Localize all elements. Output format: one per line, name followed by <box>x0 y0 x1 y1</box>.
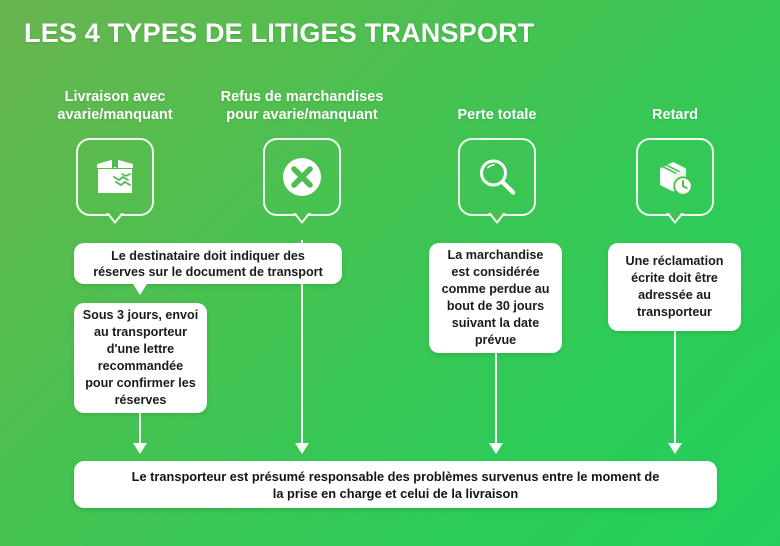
bubble-a-to-b-arrow <box>133 284 147 295</box>
column-heading-1: Livraison avec avarie/manquant <box>34 88 196 124</box>
icon-wrap-1 <box>76 138 154 216</box>
connector-line-4 <box>674 331 676 445</box>
icon-box-tail-inner-2 <box>295 212 309 221</box>
bubble-destinataire-reserves: Le destinataire doit indiquer des réserv… <box>74 243 342 284</box>
bubble-lettre-recommandee: Sous 3 jours, envoi au transporteur d'un… <box>74 303 207 413</box>
column-refus-marchandises: Refus de marchandises pour avarie/manqua… <box>212 88 392 216</box>
icon-wrap-4 <box>636 138 714 216</box>
bubble-marchandise-perdue: La marchandise est considérée comme perd… <box>429 243 562 353</box>
icon-wrap-2 <box>263 138 341 216</box>
column-heading-2: Refus de marchandises pour avarie/manqua… <box>212 88 392 124</box>
icon-box-tail-inner-3 <box>490 212 504 221</box>
icon-box-tail-inner-4 <box>668 212 682 221</box>
box-clock-icon <box>652 154 698 200</box>
connector-line-1 <box>139 413 141 445</box>
icon-box-tail-inner-1 <box>108 212 122 221</box>
connector-arrow-3 <box>489 443 503 454</box>
column-heading-4: Retard <box>594 106 756 124</box>
connector-line-3 <box>495 353 497 445</box>
connector-arrow-1 <box>133 443 147 454</box>
column-livraison-avarie: Livraison avec avarie/manquant <box>34 88 196 216</box>
column-retard: Retard <box>594 88 756 216</box>
damaged-box-icon <box>92 155 138 199</box>
icon-box-2[interactable] <box>263 138 341 216</box>
connector-arrow-2 <box>295 443 309 454</box>
bubble-reclamation-ecrite: Une réclamation écrite doit être adressé… <box>608 243 741 331</box>
icon-box-3[interactable] <box>458 138 536 216</box>
infographic-canvas: LES 4 TYPES DE LITIGES TRANSPORT Livrais… <box>0 0 780 546</box>
icon-box-4[interactable] <box>636 138 714 216</box>
circle-x-icon <box>279 154 325 200</box>
magnifier-icon <box>474 154 520 200</box>
conclusion-banner: Le transporteur est présumé responsable … <box>74 461 717 508</box>
connector-arrow-4 <box>668 443 682 454</box>
icon-box-1[interactable] <box>76 138 154 216</box>
icon-wrap-3 <box>458 138 536 216</box>
column-heading-3: Perte totale <box>416 106 578 124</box>
page-title: LES 4 TYPES DE LITIGES TRANSPORT <box>24 18 534 49</box>
column-perte-totale: Perte totale <box>416 88 578 216</box>
